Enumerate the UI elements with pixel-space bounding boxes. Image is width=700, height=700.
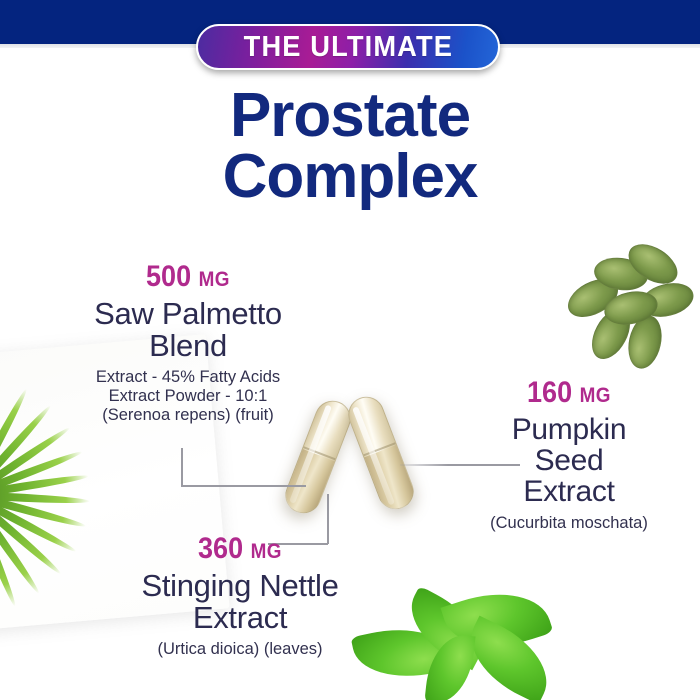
ingredient-name-line: Stinging Nettle — [60, 570, 420, 602]
ingredient-detail-line: (Serenoa repens) (fruit) — [28, 406, 348, 425]
ingredient-name-line: Extract — [60, 602, 420, 634]
ingredient-stinging-nettle: 360 MG Stinging Nettle Extract (Urtica d… — [60, 534, 420, 659]
dose-stinging-nettle: 360 MG — [78, 534, 402, 564]
page-title: Prostate Complex — [0, 86, 700, 208]
dose-unit: MG — [580, 384, 611, 407]
ingredient-detail-pumpkin-seed: (Cucurbita moschata) — [440, 514, 698, 533]
ingredient-name-line: Saw Palmetto — [28, 298, 348, 330]
page-title-line2: Complex — [0, 147, 700, 208]
ingredient-detail-line: (Cucurbita moschata) — [440, 514, 698, 533]
dose-value: 160 — [527, 376, 572, 409]
ultimate-badge-label: THE ULTIMATE — [243, 31, 452, 64]
ultimate-badge: THE ULTIMATE — [196, 24, 500, 70]
ingredient-detail-saw-palmetto: Extract - 45% Fatty Acids Extract Powder… — [28, 368, 348, 424]
dose-value: 360 — [198, 532, 243, 565]
pumpkin-seeds-image — [560, 240, 700, 390]
dose-saw-palmetto: 500 MG — [44, 262, 332, 292]
ingredient-detail-line: (Urtica dioica) (leaves) — [60, 640, 420, 659]
ingredient-detail-stinging-nettle: (Urtica dioica) (leaves) — [60, 640, 420, 659]
leader-line-saw-palmetto — [181, 485, 306, 487]
ingredient-name-line: Pumpkin — [440, 414, 698, 445]
page-title-line1: Prostate — [0, 86, 700, 147]
supplement-capsule — [343, 391, 419, 514]
ingredient-detail-line: Extract Powder - 10:1 — [28, 387, 348, 406]
dose-unit: MG — [199, 268, 230, 291]
ingredient-name-line: Seed — [440, 445, 698, 476]
product-graphic: THE ULTIMATE Prostate Complex — [0, 0, 700, 700]
ingredient-name-line: Blend — [28, 330, 348, 362]
dose-pumpkin-seed: 160 MG — [453, 378, 685, 408]
ingredient-name-saw-palmetto: Saw Palmetto Blend — [28, 298, 348, 362]
ingredient-name-line: Extract — [440, 476, 698, 507]
leader-line-saw-palmetto — [181, 448, 183, 486]
ingredient-detail-line: Extract - 45% Fatty Acids — [28, 368, 348, 387]
ingredient-name-stinging-nettle: Stinging Nettle Extract — [60, 570, 420, 634]
dose-value: 500 — [146, 260, 191, 293]
ingredient-saw-palmetto: 500 MG Saw Palmetto Blend Extract - 45% … — [28, 262, 348, 425]
ingredient-pumpkin-seed: 160 MG Pumpkin Seed Extract (Cucurbita m… — [440, 378, 698, 532]
dose-unit: MG — [251, 540, 282, 563]
ingredient-name-pumpkin-seed: Pumpkin Seed Extract — [440, 414, 698, 508]
